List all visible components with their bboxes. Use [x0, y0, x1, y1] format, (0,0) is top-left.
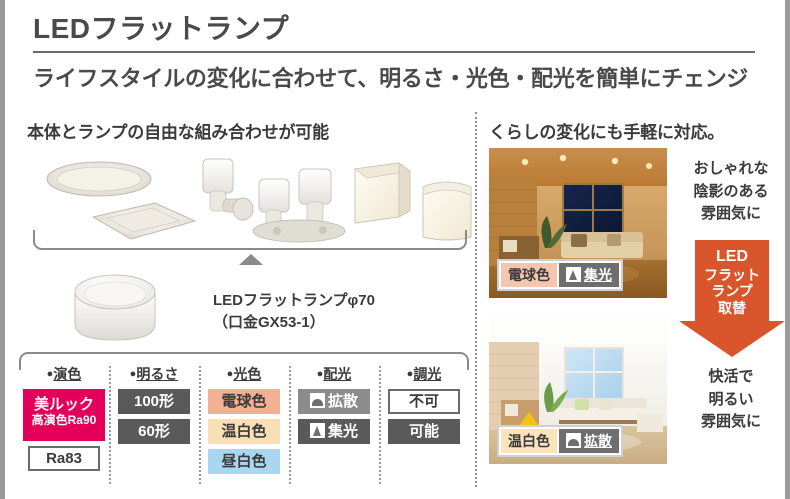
spec-chip-ra83[interactable]: Ra83 [28, 446, 100, 471]
arrow-line1: LED [679, 248, 785, 267]
photo-tag-beam: 拡散 [559, 429, 619, 453]
left-section-title: 本体とランプの自由な組み合わせが可能 [27, 118, 473, 143]
title-divider [33, 51, 755, 53]
spec-column-header: ●演色 [19, 362, 109, 384]
left-panel: 本体とランプの自由な組み合わせが可能 [27, 118, 473, 251]
arrow-label: LED フラット ランプ 取替 [679, 248, 785, 316]
right-panel: くらしの変化にも手軽に対応。 [489, 118, 789, 143]
spec-column-enshoku: ●演色 美ルック 高演色Ra90 Ra83 [19, 362, 109, 474]
flat-lamp-artwork [27, 268, 207, 348]
replace-arrow: LED フラット ランプ 取替 [679, 240, 785, 358]
room-photo-warm: 電球色 集光 [489, 148, 667, 298]
combination-bracket [33, 230, 467, 250]
spec-column-header: ●調光 [379, 362, 469, 384]
page-subtitle: ライフスタイルの変化に合わせて、明るさ・光色・配光を簡単にチェンジ [33, 61, 763, 93]
spec-column-header: ●配光 [289, 362, 379, 384]
spec-column-header: ●明るさ [109, 362, 199, 384]
spec-chip-list: 拡散 集光 [289, 389, 379, 444]
photo-tag-beam: 集光 [559, 263, 619, 287]
spec-chip-chuuhakushoku[interactable]: 昼白色 [208, 449, 280, 474]
room-photo-bright: 温白色 拡散 [489, 314, 667, 464]
right-section-title: くらしの変化にも手軽に対応。 [489, 118, 789, 143]
spread-icon [566, 433, 581, 448]
lamp-caption: LEDフラットランプφ70 （口金GX53-1） [213, 290, 375, 334]
lamp-caption-line1: LEDフラットランプφ70 [213, 292, 375, 309]
spec-chip-list: 美ルック 高演色Ra90 Ra83 [19, 389, 109, 471]
focus-icon [566, 267, 581, 282]
photo-tag-bright: 温白色 拡散 [497, 425, 623, 457]
page-title: LEDフラットランプ [33, 14, 763, 45]
spec-column-choukou: ●調光 不可 可能 [379, 362, 469, 474]
spec-chip-kanou[interactable]: 可能 [388, 419, 460, 444]
chip-line2: 高演色Ra90 [23, 414, 105, 428]
spec-column-koushoku: ●光色 電球色 温白色 昼白色 [199, 362, 289, 474]
chip-line1: 美ルック [23, 396, 105, 413]
caption-warm: おしゃれな陰影のある雰囲気に [675, 158, 787, 226]
spec-columns: ●演色 美ルック 高演色Ra90 Ra83 ●明るさ 100形 60形 [19, 362, 469, 474]
spec-column-haikou: ●配光 拡散 集光 [289, 362, 379, 474]
focus-icon [310, 423, 325, 438]
vertical-divider [475, 112, 477, 487]
spec-chip-denkyuushoku[interactable]: 電球色 [208, 389, 280, 414]
arrow-line2: フラット [679, 267, 785, 284]
spec-chip-onpakushoku[interactable]: 温白色 [208, 419, 280, 444]
caption-bright: 快活で明るい雰囲気に [675, 366, 787, 434]
spec-chip-60gata[interactable]: 60形 [118, 419, 190, 444]
photo-tag-color: 電球色 [501, 263, 557, 287]
spec-chip-list: 100形 60形 [109, 389, 199, 444]
arrow-head-icon [679, 321, 785, 357]
spec-table: ●演色 美ルック 高演色Ra90 Ra83 ●明るさ 100形 60形 [19, 352, 469, 484]
arrow-line4: 取替 [679, 300, 785, 317]
header: LEDフラットランプ ライフスタイルの変化に合わせて、明るさ・光色・配光を簡単に… [33, 14, 763, 93]
arrow-line3: ランプ [679, 283, 785, 300]
photo-tag-color: 温白色 [501, 429, 557, 453]
lamp-caption-line2: （口金GX53-1） [213, 314, 325, 331]
infographic-page: LEDフラットランプ ライフスタイルの変化に合わせて、明るさ・光色・配光を簡単に… [0, 0, 790, 499]
spec-chip-fuka[interactable]: 不可 [388, 389, 460, 414]
lamp-row: LEDフラットランプφ70 （口金GX53-1） [27, 268, 473, 348]
spec-chip-bi-look[interactable]: 美ルック 高演色Ra90 [23, 389, 105, 441]
spec-chip-shuukou[interactable]: 集光 [298, 419, 370, 444]
spec-column-akarusa: ●明るさ 100形 60形 [109, 362, 199, 474]
spec-chip-list: 電球色 温白色 昼白色 [199, 389, 289, 474]
bracket-pointer-icon [239, 254, 263, 265]
photo-tag-warm: 電球色 集光 [497, 259, 623, 291]
spread-icon [310, 393, 325, 408]
spec-chip-kakusan[interactable]: 拡散 [298, 389, 370, 414]
spec-chip-100gata[interactable]: 100形 [118, 389, 190, 414]
spec-chip-list: 不可 可能 [379, 389, 469, 444]
spec-column-header: ●光色 [199, 362, 289, 384]
